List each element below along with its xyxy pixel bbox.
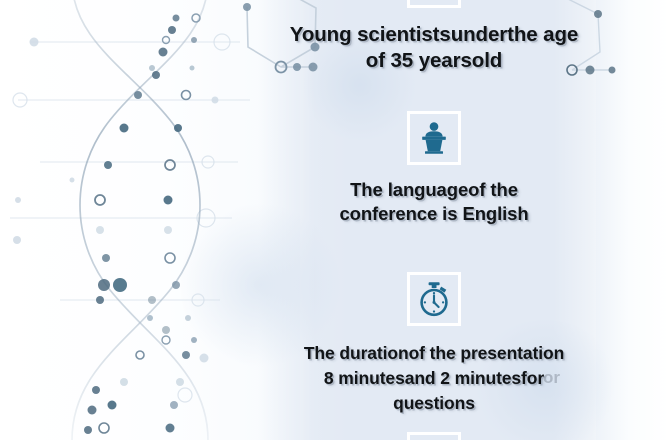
- background-left-white: [0, 0, 300, 440]
- speaker-podium-icon: [416, 120, 452, 156]
- stopwatch-icon-frame[interactable]: [407, 272, 461, 326]
- caption-language-line2: conference is English: [258, 202, 610, 226]
- slide-root: Young scientistsunderthe age of 35 years…: [0, 0, 670, 440]
- stopwatch-icon: [415, 280, 453, 318]
- block-young-scientists: Young scientistsunderthe age of 35 years…: [258, 22, 610, 74]
- caption-duration-line3: questions: [258, 391, 610, 416]
- caption-young-scientists-line1: Young scientistsunderthe age: [258, 22, 610, 48]
- speaker-podium-icon-frame[interactable]: [407, 111, 461, 165]
- content-column: Young scientistsunderthe age of 35 years…: [258, 0, 610, 440]
- block-duration: The durationof the presentation 8 minute…: [258, 272, 610, 416]
- block-language: The languageof the conference is English: [258, 111, 610, 226]
- icon-frame-cut-bottom: [407, 432, 461, 440]
- caption-young-scientists-line2: of 35 yearsold: [258, 48, 610, 74]
- icon-frame-cut-top: [407, 0, 461, 8]
- caption-language-line1: The languageof the: [258, 178, 610, 202]
- caption-duration-line1: The durationof the presentation: [258, 341, 610, 366]
- caption-duration-line2: 8 minutesand 2 minutesfor: [258, 366, 610, 391]
